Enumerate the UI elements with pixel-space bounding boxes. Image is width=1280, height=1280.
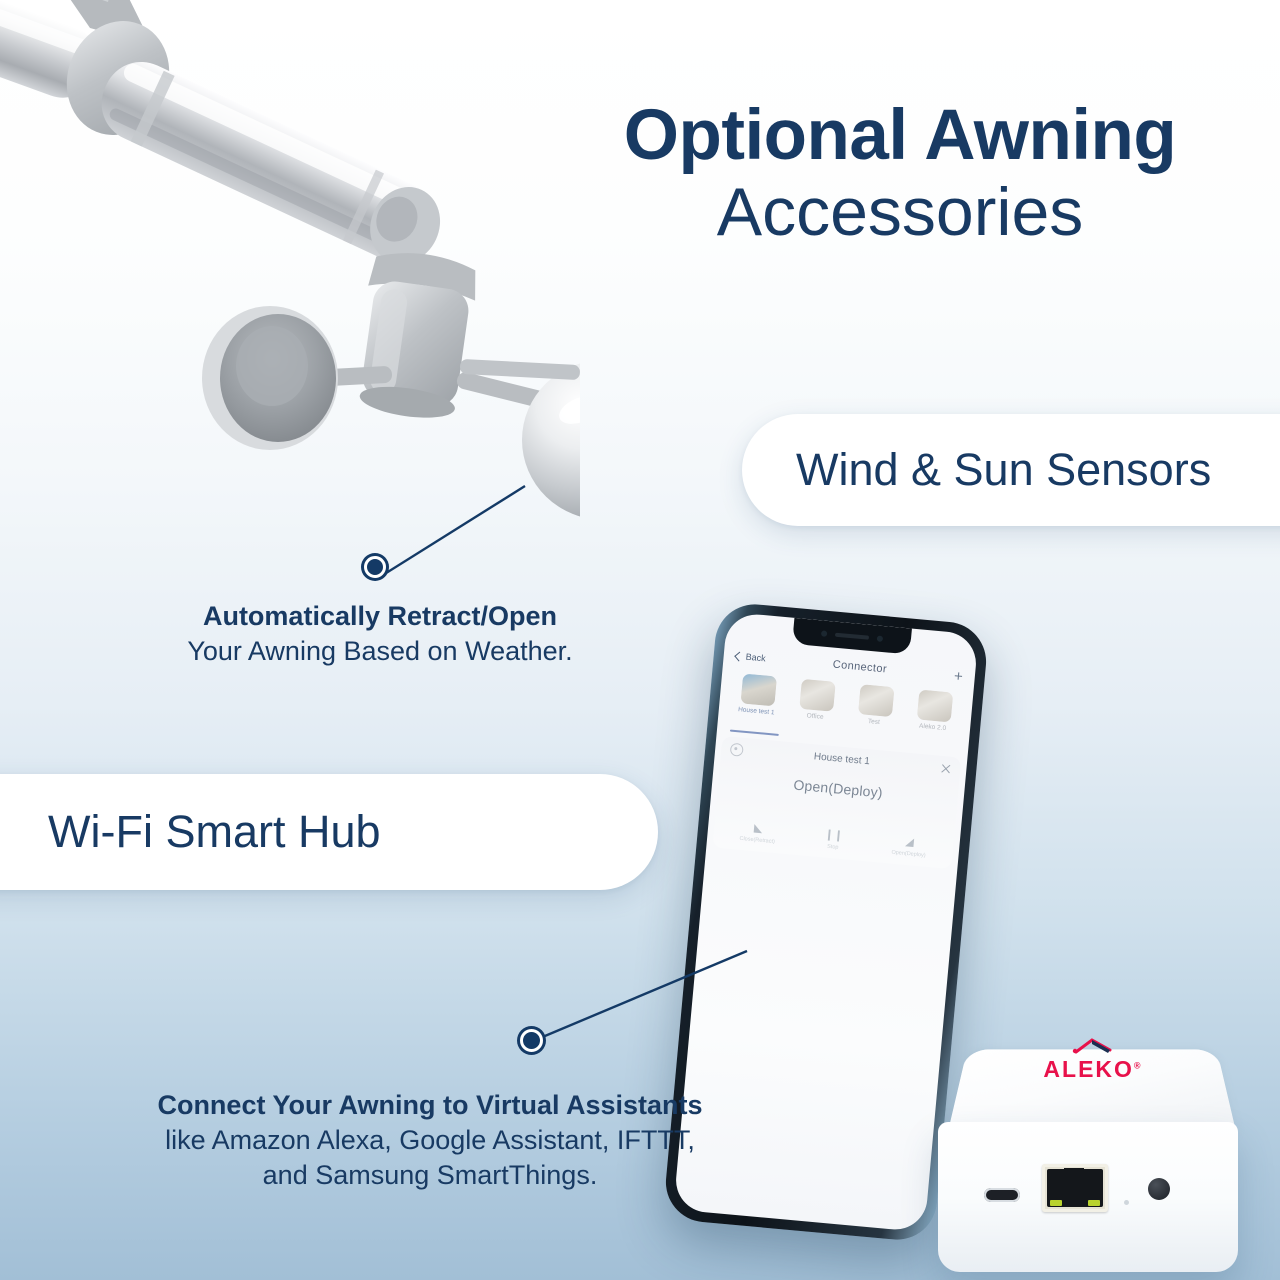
usb-c-port	[984, 1188, 1020, 1202]
open-deploy-button[interactable]: ◢ Open(Deploy)	[870, 834, 947, 861]
tab-label: Test	[868, 718, 881, 727]
tab-aleko-2-0[interactable]: Aleko 2.0	[902, 688, 965, 745]
rj45-led-left	[1050, 1200, 1062, 1206]
tab-office[interactable]: Office	[784, 678, 847, 735]
rj45-led-right	[1088, 1200, 1100, 1206]
gear-icon[interactable]	[730, 742, 744, 756]
badge-wind-sun-sensors: Wind & Sun Sensors	[742, 414, 1280, 526]
caption-sensors-bold: Automatically Retract/Open	[120, 600, 640, 634]
earpiece-speaker	[835, 633, 869, 640]
badge-label-hub: Wi-Fi Smart Hub	[48, 806, 381, 858]
retract-icon: ◣	[753, 823, 762, 835]
close-retract-button[interactable]: ◣ Close(Retract)	[719, 820, 796, 847]
tab-house-test-1[interactable]: House test 1	[726, 672, 789, 729]
tab-thumbnail-icon	[799, 679, 836, 712]
stop-button[interactable]: ❙❙ Stop	[795, 827, 872, 854]
tab-active-underline	[730, 729, 780, 735]
control-label: Open(Deploy)	[891, 850, 926, 859]
reset-button[interactable]	[1148, 1178, 1170, 1200]
wind-sensor-product-image	[0, 0, 580, 550]
badge-label-sensors: Wind & Sun Sensors	[796, 444, 1211, 496]
rj45-latch-slot	[1064, 1168, 1084, 1184]
pause-icon: ❙❙	[824, 830, 843, 843]
tab-thumbnail-icon	[916, 689, 953, 722]
headline-line-2: Accessories	[540, 177, 1260, 248]
headline-line-1: Optional Awning	[540, 100, 1260, 171]
control-button-row: ◣ Close(Retract) ❙❙ Stop ◢ Open(Deploy)	[719, 820, 948, 861]
caption-sensors-line-1: Your Awning Based on Weather.	[120, 634, 640, 669]
control-label: Close(Retract)	[739, 836, 775, 845]
tab-label: Aleko 2.0	[919, 723, 947, 733]
deploy-icon: ◢	[905, 837, 914, 849]
caption-sensors: Automatically Retract/Open Your Awning B…	[120, 600, 640, 669]
chevron-left-icon	[734, 651, 744, 661]
card-title: House test 1	[743, 744, 941, 773]
aleko-roof-logo-icon	[1072, 1038, 1114, 1054]
tab-thumbnail-icon	[857, 684, 894, 717]
infographic-canvas: Optional Awning Accessories Wind & Sun S…	[0, 0, 1280, 1280]
tab-label: Office	[806, 712, 823, 721]
caption-hub-line-2: and Samsung SmartThings.	[120, 1158, 740, 1194]
front-camera-icon	[821, 630, 828, 637]
hub-brand-name: ALEKO	[1043, 1056, 1134, 1082]
status-led	[1124, 1200, 1129, 1205]
hub-front-face	[938, 1122, 1238, 1272]
ethernet-rj45-port	[1042, 1164, 1108, 1212]
caption-hub-bold: Connect Your Awning to Virtual Assistant…	[120, 1088, 740, 1123]
hub-brand-logo: ALEKO®	[1043, 1056, 1142, 1083]
tab-thumbnail-icon	[740, 673, 777, 706]
callout-marker-hub	[520, 1029, 543, 1052]
caption-hub-line-1: like Amazon Alexa, Google Assistant, IFT…	[120, 1123, 740, 1159]
page-title: Optional Awning Accessories	[540, 100, 1260, 248]
control-label: Stop	[827, 844, 839, 851]
device-control-card: House test 1 Open(Deploy) ◣ Close(Retrac…	[712, 736, 961, 869]
back-button[interactable]: Back	[735, 651, 766, 664]
close-icon[interactable]	[940, 762, 952, 774]
trademark-symbol: ®	[1134, 1060, 1143, 1070]
add-device-button[interactable]: +	[953, 668, 963, 684]
badge-wifi-smart-hub: Wi-Fi Smart Hub	[0, 774, 658, 890]
caption-hub: Connect Your Awning to Virtual Assistant…	[120, 1088, 740, 1194]
aleko-smart-hub-device: ALEKO®	[928, 1004, 1258, 1280]
tab-label: House test 1	[738, 706, 775, 717]
callout-marker-sensor	[364, 556, 386, 578]
face-sensor-icon	[877, 635, 884, 642]
back-button-label: Back	[745, 652, 766, 664]
tab-test[interactable]: Test	[843, 683, 906, 740]
